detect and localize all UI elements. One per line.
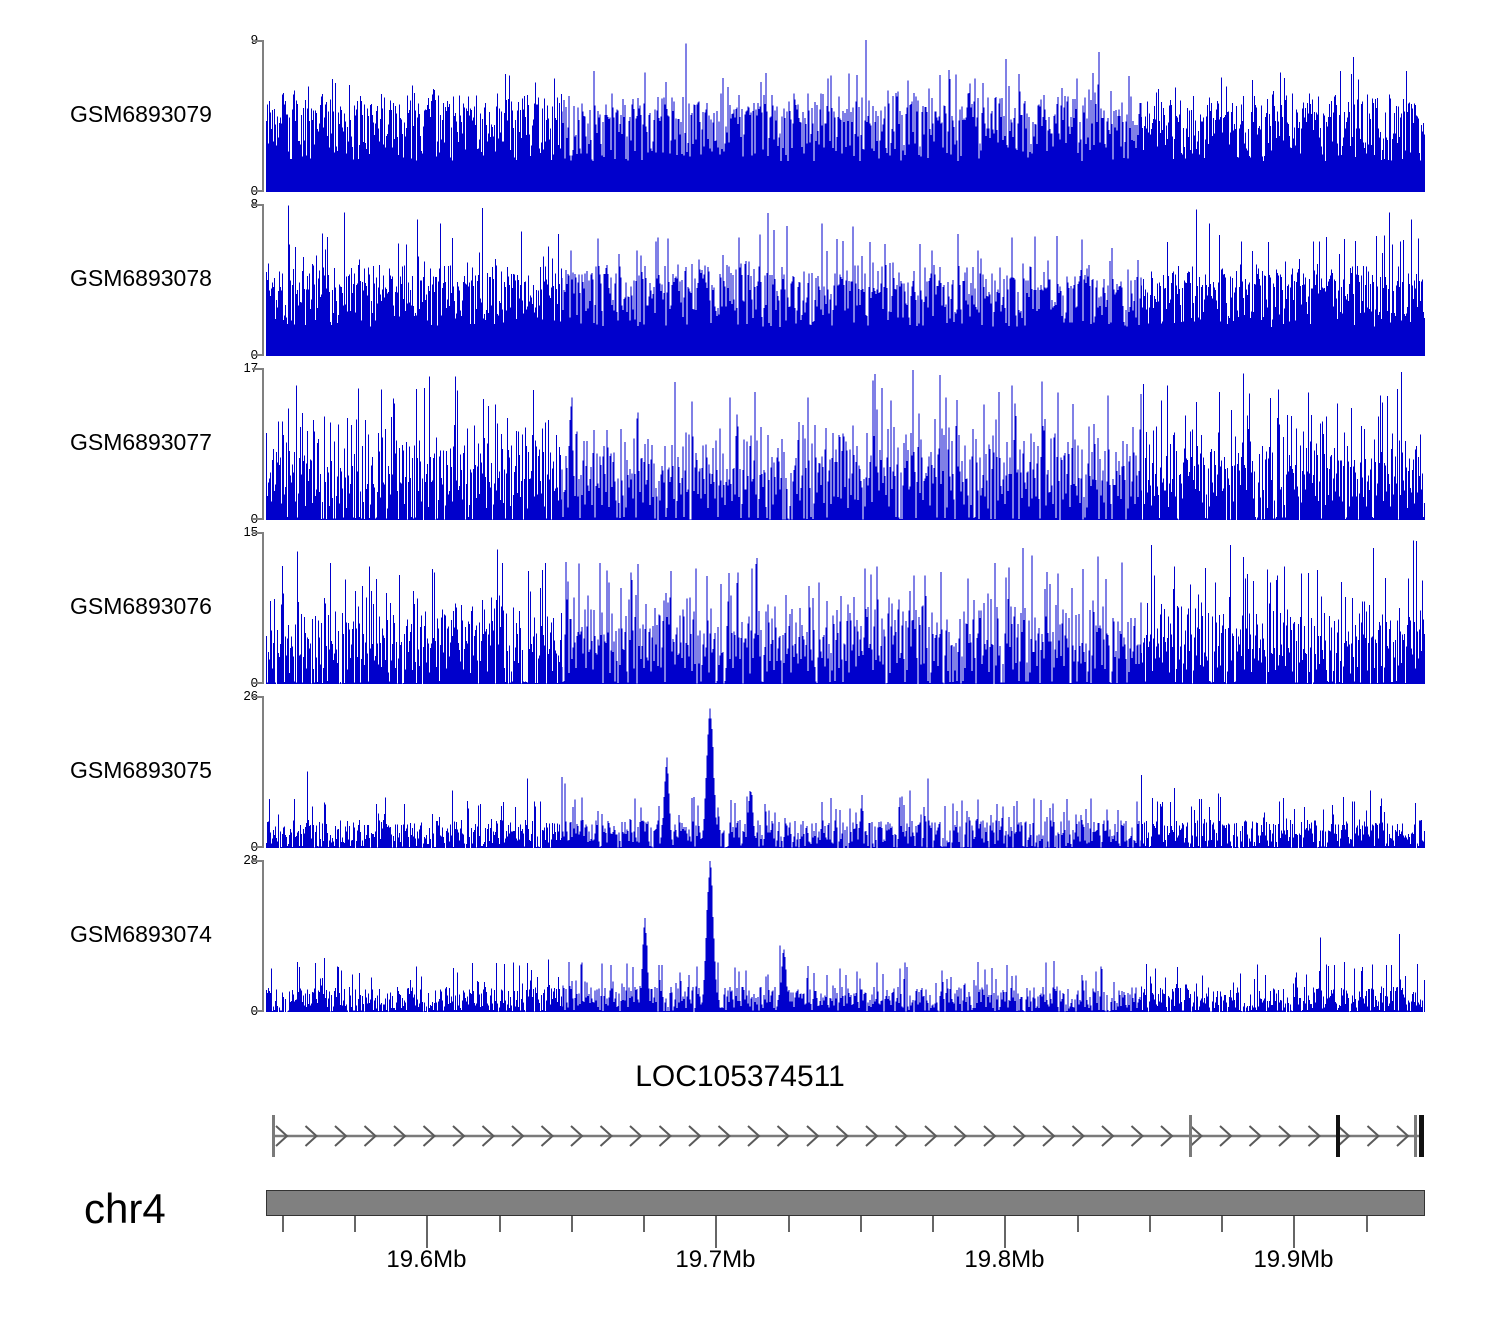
axis-minor-tick [499, 1216, 501, 1232]
y-axis-max-tick [252, 40, 264, 42]
y-axis-max-tick [252, 860, 264, 862]
axis-tick-label: 19.6Mb [346, 1246, 506, 1274]
axis-tick-label: 19.8Mb [924, 1246, 1084, 1274]
axis-major-tick [715, 1216, 717, 1248]
exon-block [1336, 1115, 1340, 1157]
y-axis-max-tick [252, 696, 264, 698]
axis-minor-tick [282, 1216, 284, 1232]
axis-minor-tick [1221, 1216, 1223, 1232]
y-axis-line [262, 696, 264, 848]
coverage-track: GSM6893075260 [0, 696, 1500, 848]
y-axis-min-tick [252, 190, 264, 192]
exon-block [1419, 1115, 1424, 1157]
track-label-gsm6893074: GSM6893074 [70, 921, 240, 948]
axis-major-tick [426, 1216, 428, 1248]
axis-minor-tick [354, 1216, 356, 1232]
coverage-bars [266, 709, 1425, 848]
ideogram-bar[interactable] [266, 1190, 1425, 1216]
coverage-plot-area [266, 860, 1425, 1012]
coverage-bars [266, 370, 1425, 520]
exon-block [1189, 1115, 1192, 1157]
coverage-track: GSM6893077170 [0, 368, 1500, 520]
y-axis-line [262, 204, 264, 356]
gene-name-label: LOC105374511 [500, 1060, 980, 1094]
track-label-gsm6893079: GSM6893079 [70, 101, 240, 128]
y-axis-min-tick [252, 1010, 264, 1012]
coverage-track: GSM6893074280 [0, 860, 1500, 1012]
coverage-track: GSM689307990 [0, 40, 1500, 192]
axis-minor-tick [788, 1216, 790, 1232]
gene-model-track[interactable] [266, 1113, 1425, 1159]
axis-minor-tick [932, 1216, 934, 1232]
axis-minor-tick [1077, 1216, 1079, 1232]
exon-block [272, 1115, 275, 1157]
genome-browser-view: GSM689307990GSM689307880GSM6893077170GSM… [0, 0, 1500, 1320]
y-axis-max-tick [252, 532, 264, 534]
track-label-gsm6893075: GSM6893075 [70, 757, 240, 784]
coverage-bars [266, 861, 1425, 1012]
y-axis-line [262, 860, 264, 1012]
y-axis-min-tick [252, 518, 264, 520]
axis-minor-tick [643, 1216, 645, 1232]
y-axis-max-tick [252, 204, 264, 206]
track-label-gsm6893077: GSM6893077 [70, 429, 240, 456]
coverage-plot-area [266, 40, 1425, 192]
axis-minor-tick [571, 1216, 573, 1232]
axis-major-tick [1004, 1216, 1006, 1248]
coverage-bars [266, 205, 1425, 356]
y-axis-min-tick [252, 682, 264, 684]
chromosome-label: chr4 [84, 1185, 166, 1233]
coverage-track: GSM689307880 [0, 204, 1500, 356]
y-axis-line [262, 368, 264, 520]
y-axis-min-tick [252, 846, 264, 848]
axis-tick-label: 19.9Mb [1213, 1246, 1373, 1274]
coverage-bars [266, 540, 1425, 684]
y-axis-line [262, 532, 264, 684]
y-axis-min-tick [252, 354, 264, 356]
coverage-plot-area [266, 204, 1425, 356]
coverage-plot-area [266, 696, 1425, 848]
y-axis-line [262, 40, 264, 192]
axis-major-tick [1293, 1216, 1295, 1248]
axis-minor-tick [860, 1216, 862, 1232]
axis-minor-tick [1149, 1216, 1151, 1232]
axis-tick-label: 19.7Mb [635, 1246, 795, 1274]
track-label-gsm6893078: GSM6893078 [70, 265, 240, 292]
track-label-gsm6893076: GSM6893076 [70, 593, 240, 620]
coverage-plot-area [266, 368, 1425, 520]
coverage-track: GSM6893076150 [0, 532, 1500, 684]
coverage-bars [266, 40, 1425, 192]
axis-minor-tick [1366, 1216, 1368, 1232]
exon-block [1414, 1115, 1417, 1157]
y-axis-max-tick [252, 368, 264, 370]
coverage-plot-area [266, 532, 1425, 684]
